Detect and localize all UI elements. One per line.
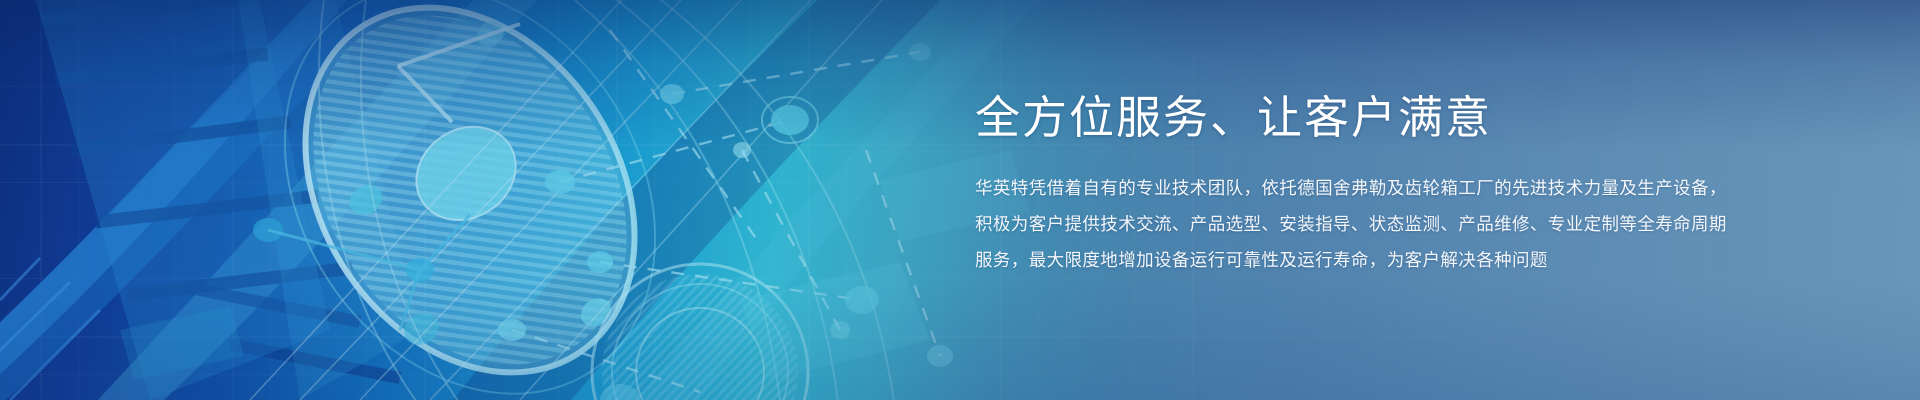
hero-banner: 全方位服务、让客户满意 华英特凭借着自有的专业技术团队，依托德国舍弗勒及齿轮箱工…: [0, 0, 1920, 400]
page-title: 全方位服务、让客户满意: [975, 88, 1795, 147]
description-line: 华英特凭借着自有的专业技术团队，依托德国舍弗勒及齿轮箱工厂的先进技术力量及生产设…: [975, 171, 1795, 207]
description-line: 服务，最大限度地增加设备运行可靠性及运行寿命，为客户解决各种问题: [975, 243, 1795, 279]
banner-description: 华英特凭借着自有的专业技术团队，依托德国舍弗勒及齿轮箱工厂的先进技术力量及生产设…: [975, 171, 1795, 278]
banner-copy: 全方位服务、让客户满意 华英特凭借着自有的专业技术团队，依托德国舍弗勒及齿轮箱工…: [975, 88, 1795, 278]
description-line: 积极为客户提供技术交流、产品选型、安装指导、状态监测、产品维修、专业定制等全寿命…: [975, 207, 1795, 243]
